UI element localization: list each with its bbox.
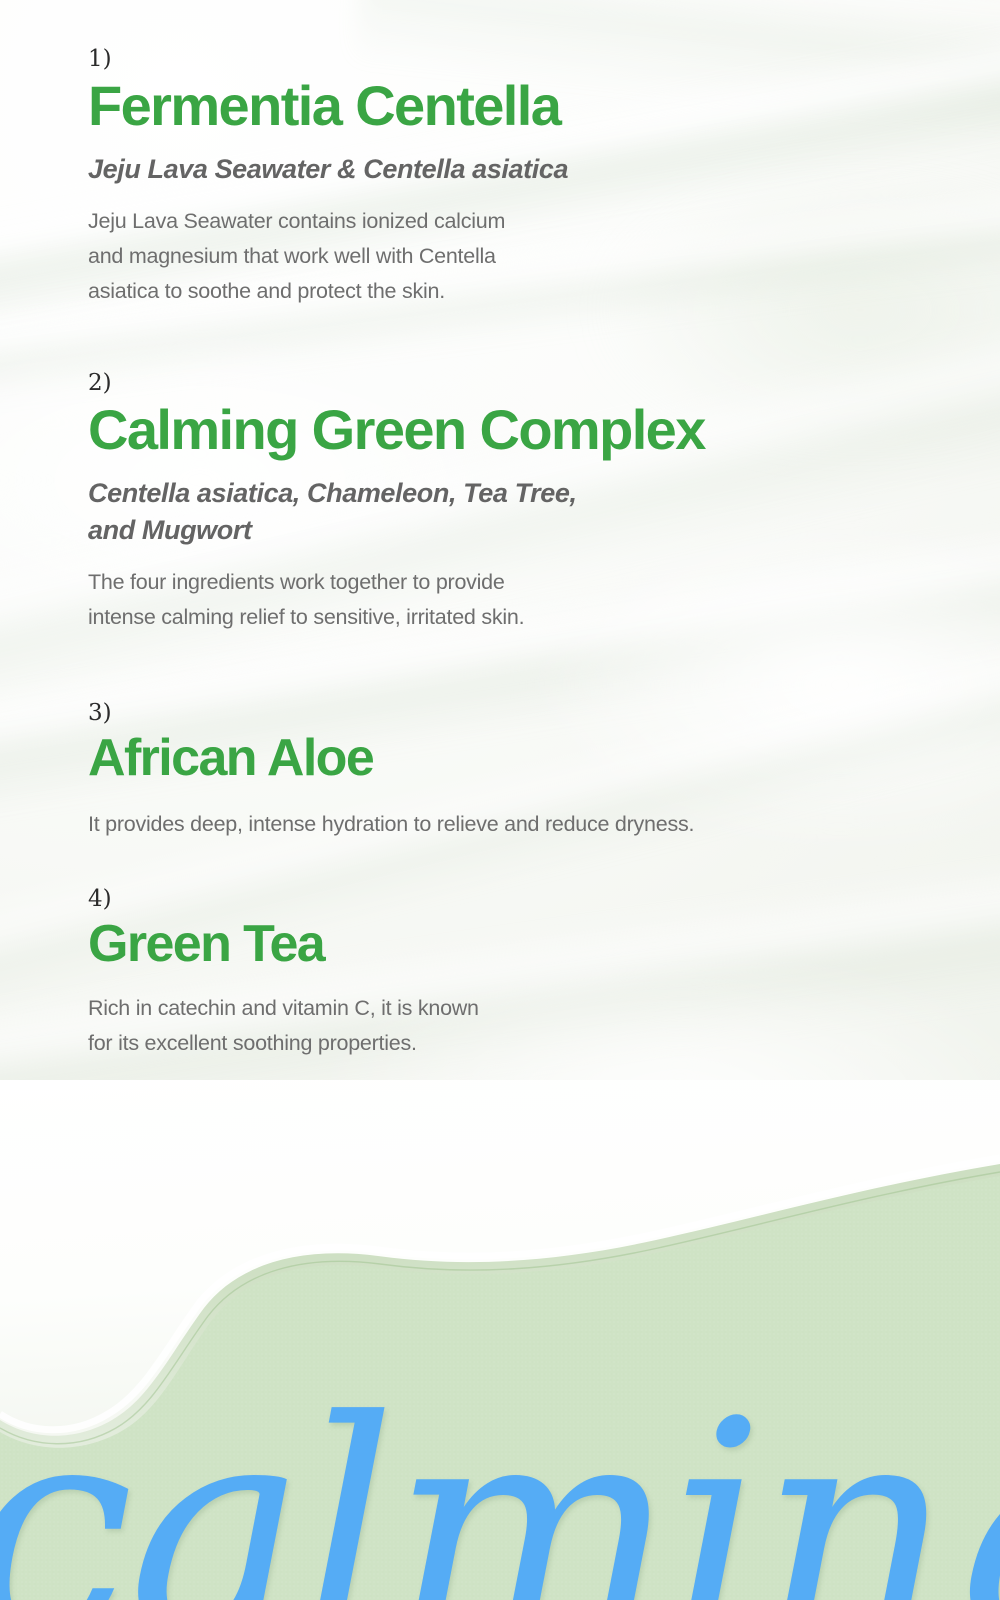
- ingredient-section-4: 4) Green Tea Rich in catechin and vitami…: [88, 888, 479, 1061]
- section-body-4: Rich in catechin and vitamin C, it is kn…: [88, 991, 479, 1061]
- section-subtitle-1: Jeju Lava Seawater & Centella asiatica: [88, 151, 568, 188]
- section-heading-4: Green Tea: [88, 917, 479, 971]
- section-body-2: The four ingredients work together to pr…: [88, 565, 705, 635]
- ingredient-section-1: 1) Fermentia Centella Jeju Lava Seawater…: [88, 48, 568, 308]
- mint-green-panel: calming: [0, 1080, 1000, 1600]
- section-number-4: 4): [88, 888, 479, 911]
- section-heading-3: African Aloe: [88, 731, 694, 785]
- section-number-2: 2): [88, 372, 705, 395]
- section-body-1: Jeju Lava Seawater contains ionized calc…: [88, 204, 568, 308]
- section-number-3: 3): [88, 702, 694, 725]
- ingredient-infographic-poster: calming 1) Fermentia Centella Jeju Lava …: [0, 0, 1000, 1600]
- calming-script-word: calming: [0, 1382, 1000, 1600]
- ingredient-section-2: 2) Calming Green Complex Centella asiati…: [88, 372, 705, 634]
- section-number-1: 1): [88, 48, 568, 71]
- section-heading-1: Fermentia Centella: [88, 77, 568, 135]
- section-heading-2: Calming Green Complex: [88, 401, 705, 459]
- section-subtitle-2: Centella asiatica, Chameleon, Tea Tree, …: [88, 475, 705, 548]
- section-body-3: It provides deep, intense hydration to r…: [88, 807, 694, 842]
- ingredient-section-3: 3) African Aloe It provides deep, intens…: [88, 702, 694, 842]
